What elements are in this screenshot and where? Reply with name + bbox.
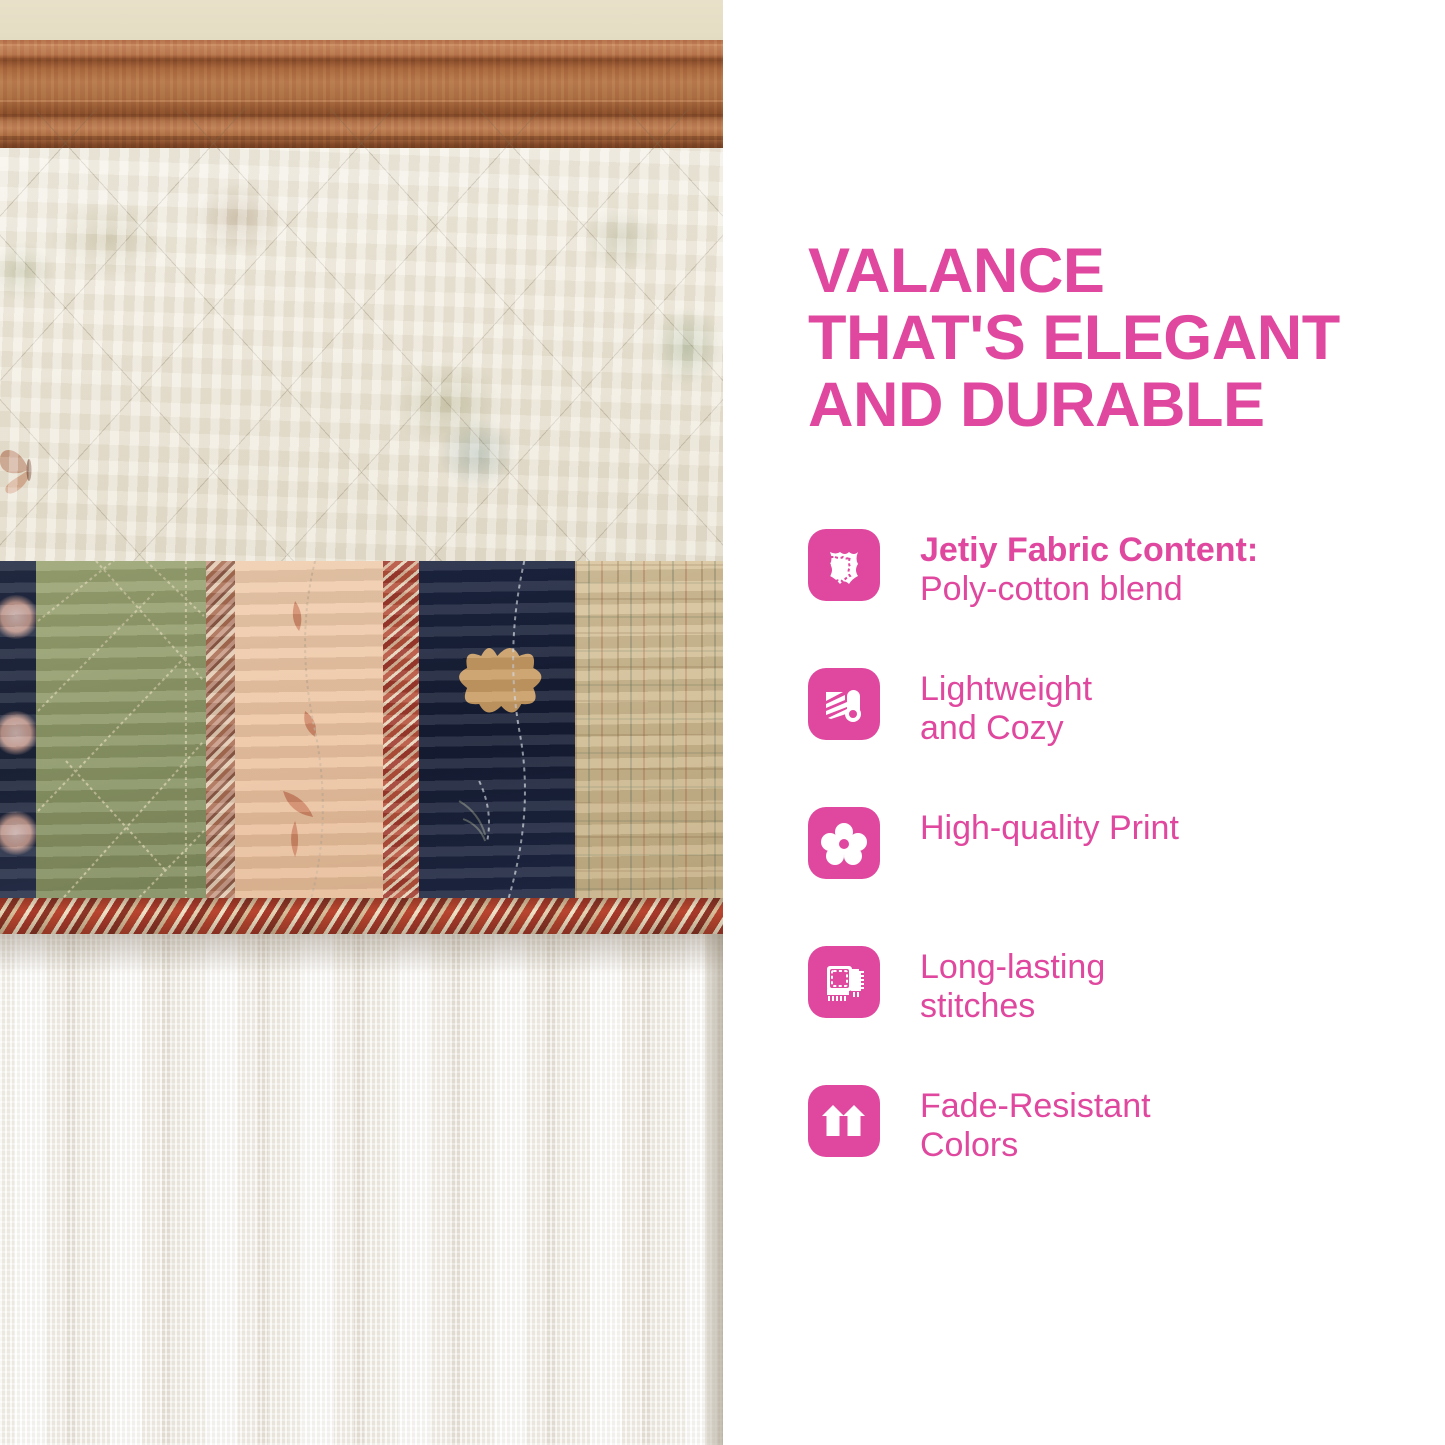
patchwork-strip: [0, 561, 723, 906]
wall-background: [0, 0, 723, 42]
patch-col-navy-floral: [0, 561, 36, 906]
feature-line-1: High-quality Print: [920, 809, 1179, 847]
patch-col-sage-green: [36, 561, 206, 906]
butterfly-motif: [0, 436, 66, 496]
feature-text: Fade-Resistant Colors: [920, 1081, 1151, 1166]
feature-list: Jetiy Fabric Content: Poly-cotton blend: [808, 525, 1418, 1220]
feature-line-2: Colors: [920, 1126, 1018, 1164]
curtain-edge: [705, 934, 723, 1445]
leather-swatch-icon: [808, 529, 880, 601]
feature-item: Fade-Resistant Colors: [808, 1081, 1418, 1220]
feature-line-1: Long-lasting: [920, 948, 1105, 986]
feature-line-2: stitches: [920, 987, 1035, 1025]
headline-line-1: VALANCE: [808, 238, 1408, 305]
feature-text: Lightweight and Cozy: [920, 664, 1092, 749]
info-panel: VALANCE THAT'S ELEGANT AND DURABLE Jetiy…: [723, 0, 1445, 1445]
feature-item: High-quality Print: [808, 803, 1418, 942]
product-photo: [0, 0, 723, 1445]
feature-value: Poly-cotton blend: [920, 570, 1183, 608]
feature-text: High-quality Print: [920, 803, 1179, 848]
feature-item: Jetiy Fabric Content: Poly-cotton blend: [808, 525, 1418, 664]
infographic-canvas: VALANCE THAT'S ELEGANT AND DURABLE Jetiy…: [0, 0, 1445, 1445]
patch-col-red-floral-sash: [383, 561, 419, 906]
feature-line-1: Lightweight: [920, 670, 1092, 708]
feature-line-2: and Cozy: [920, 709, 1064, 747]
flower-icon: [808, 807, 880, 879]
feature-item: Lightweight and Cozy: [808, 664, 1418, 803]
fabric-roll-icon: [808, 668, 880, 740]
floral-binding-trim: [0, 898, 723, 936]
feature-lead: Jetiy Fabric Content:: [920, 531, 1258, 569]
headline-line-3: AND DURABLE: [808, 372, 1408, 439]
feature-text: Long-lasting stitches: [920, 942, 1105, 1027]
double-up-arrow-icon: [808, 1085, 880, 1157]
feature-line-1: Fade-Resistant: [920, 1087, 1151, 1125]
patch-col-navy-leaf: [419, 561, 574, 906]
stitched-layers-icon: [808, 946, 880, 1018]
patch-col-floral-sash: [206, 561, 235, 906]
quilted-valance-panel: [0, 148, 723, 561]
white-curtain: [0, 934, 723, 1445]
headline-line-2: THAT'S ELEGANT: [808, 305, 1408, 372]
patch-col-tan-plaid: [575, 561, 723, 906]
feature-item: Long-lasting stitches: [808, 942, 1418, 1081]
feature-text: Jetiy Fabric Content: Poly-cotton blend: [920, 525, 1258, 610]
patch-col-peach-print: [235, 561, 383, 906]
headline: VALANCE THAT'S ELEGANT AND DURABLE: [808, 238, 1408, 439]
